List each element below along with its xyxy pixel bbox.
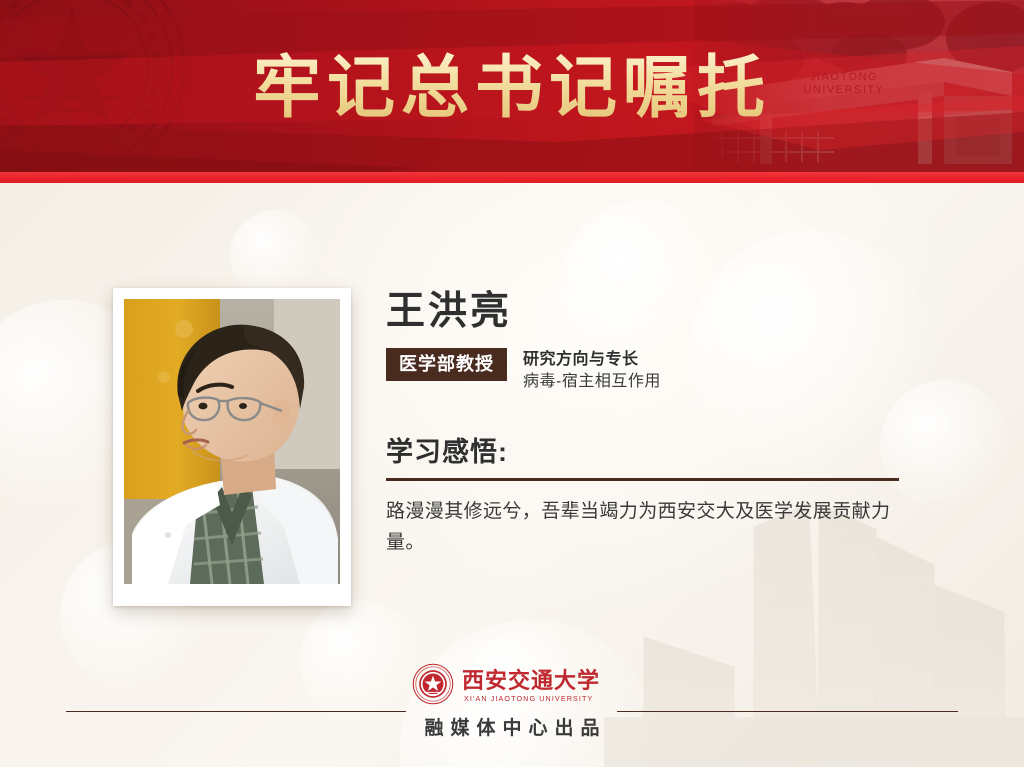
header-banner: JIAOTONG UNIVERSITY xyxy=(0,0,1024,183)
reflection-divider xyxy=(386,478,899,481)
university-name-en: XI'AN JIAOTONG UNIVERSITY xyxy=(464,694,593,703)
banner-title-calligraphy: 牢记总书记嘱托 xyxy=(252,31,772,141)
research-value: 病毒-宿主相互作用 xyxy=(523,371,661,393)
banner-accent-strip xyxy=(0,172,1024,183)
xjtu-seal-icon xyxy=(412,663,454,705)
research-label: 研究方向与专长 xyxy=(523,349,661,371)
portrait-frame xyxy=(113,288,351,606)
footer-brand: 西安交通大学 XI'AN JIAOTONG UNIVERSITY 融媒体中心出品 xyxy=(0,660,1024,740)
university-wordmark: 西安交通大学 XI'AN JIAOTONG UNIVERSITY xyxy=(462,662,612,706)
role-badge: 医学部教授 xyxy=(386,348,507,381)
research-block: 研究方向与专长 病毒-宿主相互作用 xyxy=(523,348,661,392)
footer: 西安交通大学 XI'AN JIAOTONG UNIVERSITY 融媒体中心出品 xyxy=(0,660,1024,760)
banner-title: 牢记总书记嘱托 xyxy=(0,0,1024,172)
reflection-text: 路漫漫其修远兮，吾辈当竭力为西安交大及医学发展贡献力量。 xyxy=(386,496,906,559)
poster-root: JIAOTONG UNIVERSITY xyxy=(0,0,1024,767)
footer-tagline: 融媒体中心出品 xyxy=(417,713,606,740)
university-name-cn: 西安交通大学 xyxy=(462,668,600,694)
reflection-heading: 学习感悟: xyxy=(386,430,916,469)
profile-info: 王洪亮 医学部教授 研究方向与专长 病毒-宿主相互作用 学习感悟: 路漫漫其修远… xyxy=(386,292,916,559)
banner-title-text: 牢记总书记嘱托 xyxy=(253,48,771,128)
person-name: 王洪亮 xyxy=(386,292,916,333)
footer-logo-row: 西安交通大学 XI'AN JIAOTONG UNIVERSITY xyxy=(412,660,612,708)
role-row: 医学部教授 研究方向与专长 病毒-宿主相互作用 xyxy=(386,348,916,392)
portrait-image xyxy=(124,299,340,584)
portrait-photo xyxy=(124,299,340,584)
